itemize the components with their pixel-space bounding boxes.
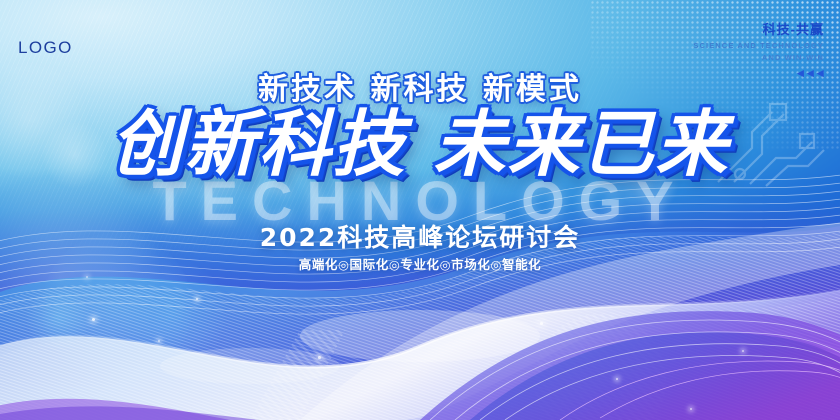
- headline-text: 创新科技 未来已来: [110, 108, 729, 180]
- subtitle-keywords: 高端化◎国际化◎专业化◎市场化◎智能化: [0, 254, 840, 273]
- corner-slogan-english-line1: SCIENCE AND TECHNOLOGY: [693, 41, 824, 50]
- corner-slogan-chinese: 科技-共赢: [693, 22, 824, 38]
- tech-conference-poster: LOGO 科技-共赢 SCIENCE AND TECHNOLOGY AND WI…: [0, 0, 840, 420]
- logo-placeholder[interactable]: LOGO: [18, 38, 73, 58]
- headline: 创新科技 未来已来: [0, 108, 840, 180]
- poster-content: LOGO 科技-共赢 SCIENCE AND TECHNOLOGY AND WI…: [0, 0, 840, 420]
- corner-slogan-english-line2: AND WIN-WIN: [693, 53, 824, 62]
- subtitle-event-name: 2022科技高峰论坛研讨会: [0, 218, 840, 254]
